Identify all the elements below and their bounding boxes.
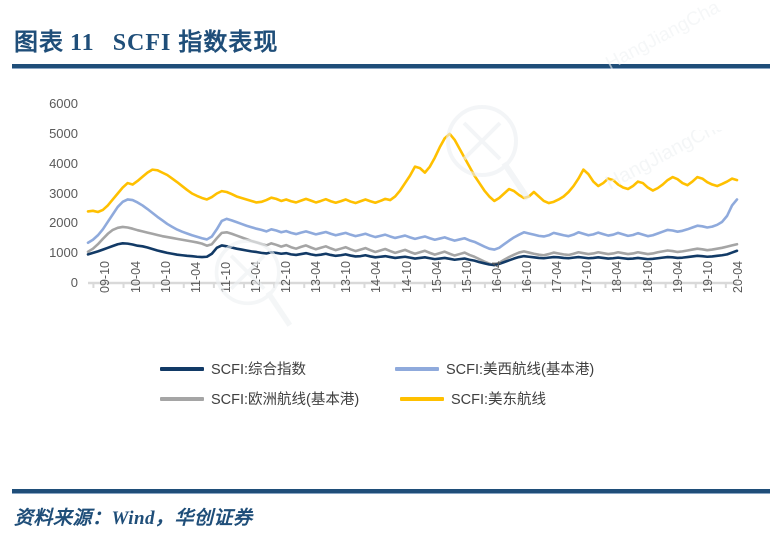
x-tick-label: 19-10 [701, 261, 715, 293]
legend-label: SCFI:美西航线(基本港) [446, 358, 594, 379]
x-tick-label: 11-04 [189, 262, 203, 293]
page-title: 图表11SCFI 指数表现 [14, 22, 278, 57]
chart-legend: SCFI:综合指数SCFI:美西航线(基本港)SCFI:欧洲航线(基本港)SCF… [0, 356, 782, 420]
x-tick-label: 14-10 [400, 261, 414, 293]
x-tick-label: 15-10 [460, 261, 474, 293]
x-tick-label: 10-04 [129, 261, 143, 293]
source-note: 资料来源：Wind，华创证券 [14, 503, 253, 530]
x-tick-label: 11-10 [219, 262, 233, 293]
figure-page: 图表11SCFI 指数表现 0100020003000400050006000 … [0, 0, 782, 550]
x-tick-label: 15-04 [430, 261, 444, 293]
x-tick-label: 16-04 [490, 261, 504, 293]
legend-item[interactable]: SCFI:综合指数 [160, 358, 306, 379]
x-tick-label: 20-04 [731, 261, 745, 293]
legend-label: SCFI:美东航线 [451, 388, 546, 409]
legend-color-swatch [400, 397, 444, 401]
legend-color-swatch [160, 397, 204, 401]
legend-item[interactable]: SCFI:美东航线 [400, 388, 546, 409]
legend-label: SCFI:欧洲航线(基本港) [211, 388, 359, 409]
y-tick-label: 2000 [18, 215, 78, 230]
y-tick-label: 6000 [18, 96, 78, 111]
legend-label: SCFI:综合指数 [211, 358, 306, 379]
legend-item[interactable]: SCFI:欧洲航线(基本港) [160, 388, 359, 409]
figure-label: 图表 [14, 30, 64, 56]
y-tick-label: 5000 [18, 126, 78, 141]
x-tick-label: 09-10 [98, 261, 112, 293]
figure-number: 11 [70, 30, 95, 56]
legend-color-swatch [160, 367, 204, 371]
figure-title-text: SCFI 指数表现 [113, 30, 279, 56]
x-tick-label: 18-04 [610, 261, 624, 293]
x-tick-label: 10-10 [159, 261, 173, 293]
x-tick-label: 12-10 [279, 261, 293, 293]
chart-series-line [88, 134, 737, 212]
y-tick-label: 3000 [18, 186, 78, 201]
footer-divider [12, 489, 770, 494]
x-tick-label: 19-04 [671, 261, 685, 293]
chart-series-line [88, 199, 737, 249]
y-tick-label: 1000 [18, 245, 78, 260]
x-tick-label: 13-10 [339, 261, 353, 293]
x-tick-label: 14-04 [369, 261, 383, 293]
y-tick-label: 0 [18, 275, 78, 290]
y-tick-label: 4000 [18, 156, 78, 171]
x-tick-label: 13-04 [309, 261, 323, 293]
x-tick-label: 18-10 [641, 261, 655, 293]
legend-color-swatch [395, 367, 439, 371]
x-tick-label: 17-04 [550, 261, 564, 293]
title-divider [12, 64, 770, 69]
x-tick-label: 17-10 [580, 261, 594, 293]
x-tick-label: 16-10 [520, 261, 534, 293]
legend-item[interactable]: SCFI:美西航线(基本港) [395, 358, 594, 379]
x-tick-label: 12-04 [249, 261, 263, 293]
